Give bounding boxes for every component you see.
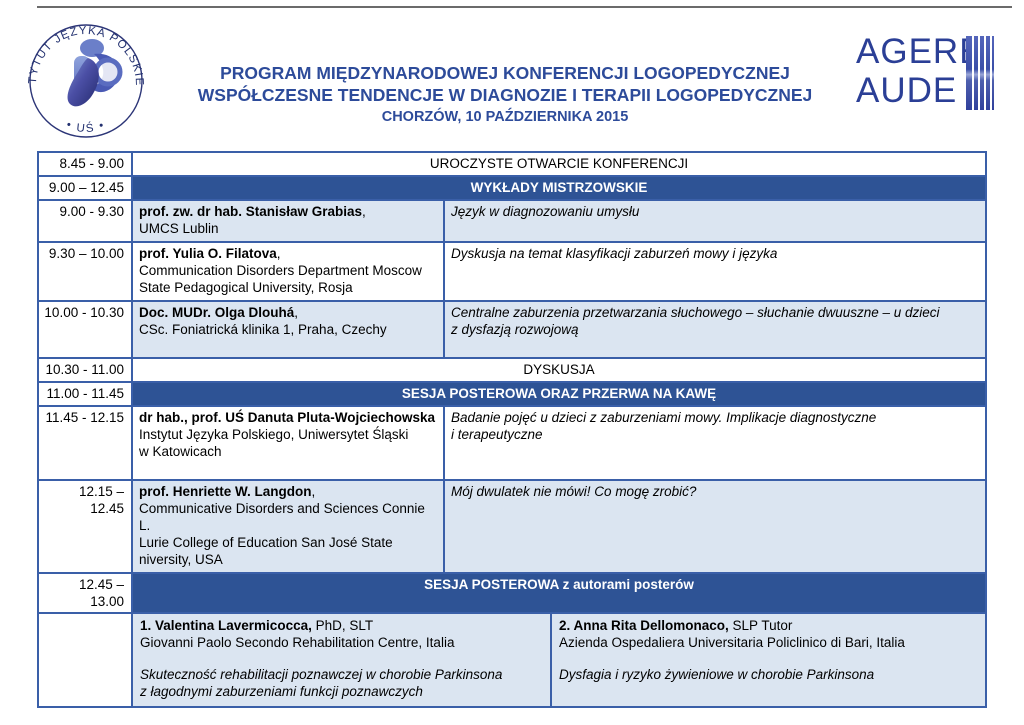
table-row: 11.45 - 12.15 dr hab., prof. UŚ Danuta P… [39,407,985,481]
topic-line: Badanie pojęć u dzieci z zaburzeniami mo… [451,409,977,426]
table-row: 10.00 - 10.30 Doc. MUDr. Olga Dlouhá, CS… [39,302,985,359]
speaker-affiliation-line: Communicative Disorders and Sciences Con… [139,500,437,534]
topic-line: Mój dwulatek nie mówi! Co mogę zrobić? [451,483,977,500]
speaker-affiliation-line: w Katowicach [139,443,437,460]
topic-line: Język w diagnozowaniu umysłu [451,203,977,220]
row-topic: Mój dwulatek nie mówi! Co mogę zrobić? [445,481,985,572]
row-time: 10.30 - 11.00 [39,359,133,381]
row-speaker: Doc. MUDr. Olga Dlouhá, CSc. Foniatrická… [133,302,445,357]
conference-title-line-2: WSPÓŁCZESNE TENDENCJE W DIAGNOZIE I TERA… [160,84,850,106]
speaker-name: prof. Henriette W. Langdon [139,484,312,499]
row-time: 11.00 - 11.45 [39,383,133,405]
program-schedule-table: 8.45 - 9.00 UROCZYSTE OTWARCIE KONFERENC… [37,151,987,708]
poster-title-line [559,683,977,700]
poster-title-line: Skuteczność rehabilitacji poznawczej w c… [140,666,542,683]
row-time: 9.30 – 10.00 [39,243,133,300]
row-speaker: prof. zw. dr hab. Stanisław Grabias, UMC… [133,201,445,241]
row-topic: Język w diagnozowaniu umysłu [445,201,985,241]
conference-program-page: INSTYTUT JĘZYKA POLSKIEGO • UŚ • PROGRAM… [0,0,1024,725]
row-time: 12.15 – 12.45 [39,481,133,572]
speaker-name: prof. zw. dr hab. Stanisław Grabias [139,204,362,219]
speaker-affiliation-line: niversity, USA [139,551,437,568]
agere-aude-logo: AGERE AUDE [856,32,996,116]
speaker-affiliation-line: State Pedagogical University, Rosja [139,279,437,296]
table-row: 11.00 - 11.45 SESJA POSTEROWA ORAZ PRZER… [39,383,985,407]
row-topic: Centralne zaburzenia przetwarzania słuch… [445,302,985,357]
conference-title-line-1: PROGRAM MIĘDZYNARODOWEJ KONFERENCJI LOGO… [160,62,850,84]
row-topic: Dyskusja na temat klasyfikacji zaburzeń … [445,243,985,300]
row-time: 10.00 - 10.30 [39,302,133,357]
poster-author-name: 2. Anna Rita Dellomonaco, [559,618,729,633]
row-topic: Badanie pojęć u dzieci z zaburzeniami mo… [445,407,985,479]
topic-line: z dysfazją rozwojową [451,321,977,338]
spacer [139,338,437,353]
table-row: 9.00 - 9.30 prof. zw. dr hab. Stanisław … [39,201,985,243]
table-row: 9.30 – 10.00 prof. Yulia O. Filatova, Co… [39,243,985,302]
instytut-jezyka-polskiego-logo: INSTYTUT JĘZYKA POLSKIEGO • UŚ • [22,18,150,143]
poster-affiliation: Azienda Ospedaliera Universitaria Policl… [559,634,977,651]
table-row: 12.15 – 12.45 prof. Henriette W. Langdon… [39,481,985,574]
document-header: INSTYTUT JĘZYKA POLSKIEGO • UŚ • PROGRAM… [0,12,1024,144]
conference-date-location: CHORZÓW, 10 PAŹDZIERNIKA 2015 [160,106,850,128]
row-time: 8.45 - 9.00 [39,153,133,175]
speaker-affiliation-line: UMCS Lublin [139,220,437,237]
poster-affiliation: Giovanni Paolo Secondo Rehabilitation Ce… [140,634,542,651]
poster-title-line: z łagodnymi zaburzeniami funkcji poznawc… [140,683,542,700]
spacer [139,460,437,475]
agere-aude-bars-icon [966,36,994,110]
svg-text:• UŚ •: • UŚ • [64,119,107,135]
poster-author-credentials: PhD, SLT [316,618,374,633]
poster-row-time-gutter [39,614,133,706]
poster-entry-1: 1. Valentina Lavermicocca, PhD, SLT Giov… [133,614,552,706]
row-banner-text: WYKŁADY MISTRZOWSKIE [133,177,985,199]
page-top-rule [37,6,1012,8]
row-speaker: dr hab., prof. UŚ Danuta Pluta-Wojciecho… [133,407,445,479]
table-row: 10.30 - 11.00 DYSKUSJA [39,359,985,383]
poster-author-name: 1. Valentina Lavermicocca, [140,618,312,633]
row-banner-text: DYSKUSJA [133,359,985,381]
speaker-name-suffix: , [294,305,298,320]
conference-title-block: PROGRAM MIĘDZYNARODOWEJ KONFERENCJI LOGO… [160,62,850,128]
speaker-name: dr hab., prof. UŚ Danuta Pluta-Wojciecho… [139,410,435,425]
row-time: 9.00 - 9.30 [39,201,133,241]
table-row-posters: 1. Valentina Lavermicocca, PhD, SLT Giov… [39,614,985,706]
poster-entry-2: 2. Anna Rita Dellomonaco, SLP Tutor Azie… [552,614,985,706]
speaker-name-suffix: , [277,246,281,261]
row-banner-text: SESJA POSTEROWA z autorami posterów [133,574,985,612]
speaker-name-suffix: , [362,204,366,219]
spacer [140,651,542,666]
row-banner-text: SESJA POSTEROWA ORAZ PRZERWA NA KAWĘ [133,383,985,405]
speaker-affiliation-line: Communication Disorders Department Mosco… [139,262,437,279]
table-row: 12.45 – 13.00 SESJA POSTEROWA z autorami… [39,574,985,614]
spacer [559,651,977,666]
table-row: 9.00 – 12.45 WYKŁADY MISTRZOWSKIE [39,177,985,201]
speaker-affiliation-line: CSc. Foniatrická klinika 1, Praha, Czech… [139,321,437,338]
speaker-name: Doc. MUDr. Olga Dlouhá [139,305,294,320]
speaker-name-suffix: , [312,484,316,499]
topic-line: Centralne zaburzenia przetwarzania słuch… [451,304,977,321]
speaker-name: prof. Yulia O. Filatova [139,246,277,261]
row-time: 12.45 – 13.00 [39,574,133,612]
row-banner-text: UROCZYSTE OTWARCIE KONFERENCJI [133,153,985,175]
topic-line: Dyskusja na temat klasyfikacji zaburzeń … [451,245,977,262]
poster-title-line: Dysfagia i ryzyko żywieniowe w chorobie … [559,666,977,683]
speaker-affiliation-line: Lurie College of Education San José Stat… [139,534,437,551]
row-speaker: prof. Yulia O. Filatova, Communication D… [133,243,445,300]
topic-line: i terapeutyczne [451,426,977,443]
row-time: 9.00 – 12.45 [39,177,133,199]
poster-author-credentials: SLP Tutor [733,618,793,633]
row-time: 11.45 - 12.15 [39,407,133,479]
table-row: 8.45 - 9.00 UROCZYSTE OTWARCIE KONFERENC… [39,153,985,177]
row-speaker: prof. Henriette W. Langdon, Communicativ… [133,481,445,572]
speaker-affiliation-line: Instytut Języka Polskiego, Uniwersytet Ś… [139,426,437,443]
